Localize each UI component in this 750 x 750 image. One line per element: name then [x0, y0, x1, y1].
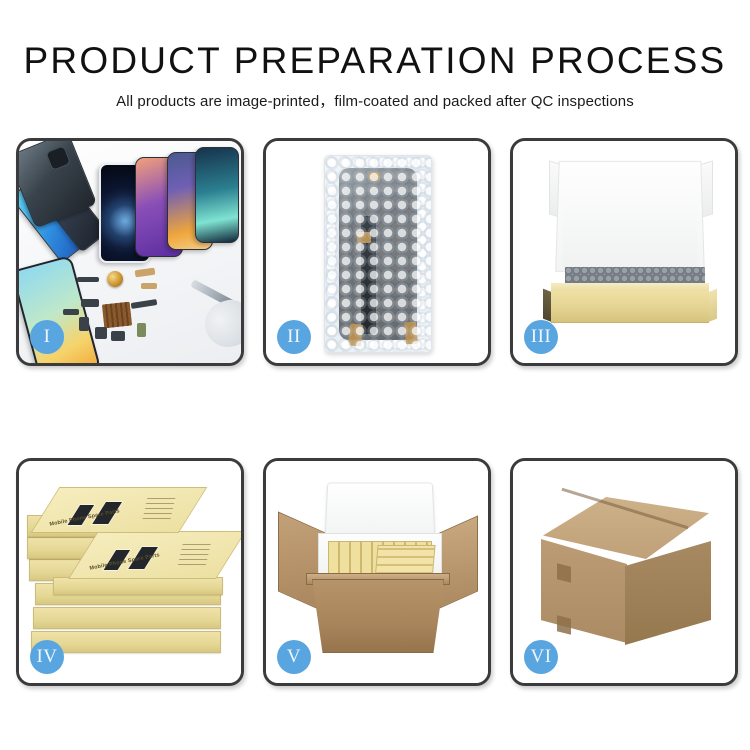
- bubble-texture-overlay: [325, 156, 431, 352]
- chip-component: [102, 302, 132, 329]
- step-badge-3: III: [524, 320, 558, 354]
- page-title: PRODUCT PREPARATION PROCESS: [0, 42, 750, 81]
- stacked-box-5: [33, 607, 221, 629]
- header: PRODUCT PREPARATION PROCESS All products…: [0, 0, 750, 111]
- step-badge-5: V: [277, 640, 311, 674]
- step-badge-1: I: [30, 320, 64, 354]
- box-text-line-b3: [145, 508, 174, 509]
- box-text-line-b1: [147, 498, 176, 499]
- process-step-1: I: [16, 138, 244, 366]
- bubble-wrap-bag: [324, 155, 432, 353]
- part-chip-3: [95, 327, 107, 339]
- part-chip-1: [81, 299, 99, 307]
- white-foam-liner: [563, 193, 697, 271]
- box-text-line-a5: [178, 564, 207, 565]
- gloved-hand: [199, 295, 244, 353]
- box-text-line-b5: [142, 518, 171, 519]
- box-text-line-a3: [180, 554, 209, 555]
- box-text-line-b2: [146, 503, 175, 504]
- part-chip-2: [79, 317, 89, 331]
- process-step-grid: I II: [16, 138, 738, 686]
- yellow-box-front: [551, 291, 709, 323]
- box-text-line-a2: [181, 549, 210, 550]
- box-text-line-a1: [182, 544, 211, 545]
- part-sim-tray: [137, 323, 146, 337]
- step-badge-6: VI: [524, 640, 558, 674]
- box-text-line-b4: [144, 513, 173, 514]
- part-chip-4: [111, 331, 125, 341]
- part-strip-4: [63, 309, 79, 315]
- part-flex-cable: [131, 299, 158, 309]
- process-step-2: II: [263, 138, 491, 366]
- carton-body: [312, 579, 444, 653]
- sealed-carton-front: [541, 539, 627, 643]
- product-preparation-infographic: PRODUCT PREPARATION PROCESS All products…: [0, 0, 750, 750]
- process-step-6: VI: [510, 458, 738, 686]
- teal-gradient-phone: [195, 147, 239, 243]
- box-text-line-a4: [179, 559, 208, 560]
- foam-box-lid: [325, 483, 436, 539]
- part-strip-2: [135, 268, 156, 278]
- process-step-4: Mobile Phone Spare Parts Mobile Phone Sp…: [16, 458, 244, 686]
- process-step-3: III: [510, 138, 738, 366]
- carton-tape-patch-top: [557, 563, 571, 582]
- step-badge-4: IV: [30, 640, 64, 674]
- part-strip-3: [141, 283, 157, 289]
- process-step-5: V: [263, 458, 491, 686]
- speaker-component: [107, 271, 123, 287]
- carton-tape-patch-bottom: [557, 615, 571, 634]
- step-badge-2: II: [277, 320, 311, 354]
- page-subtitle: All products are image-printed，film-coat…: [0, 90, 750, 111]
- part-strip-1: [77, 277, 99, 282]
- stacked-box-front-edge: [53, 577, 223, 595]
